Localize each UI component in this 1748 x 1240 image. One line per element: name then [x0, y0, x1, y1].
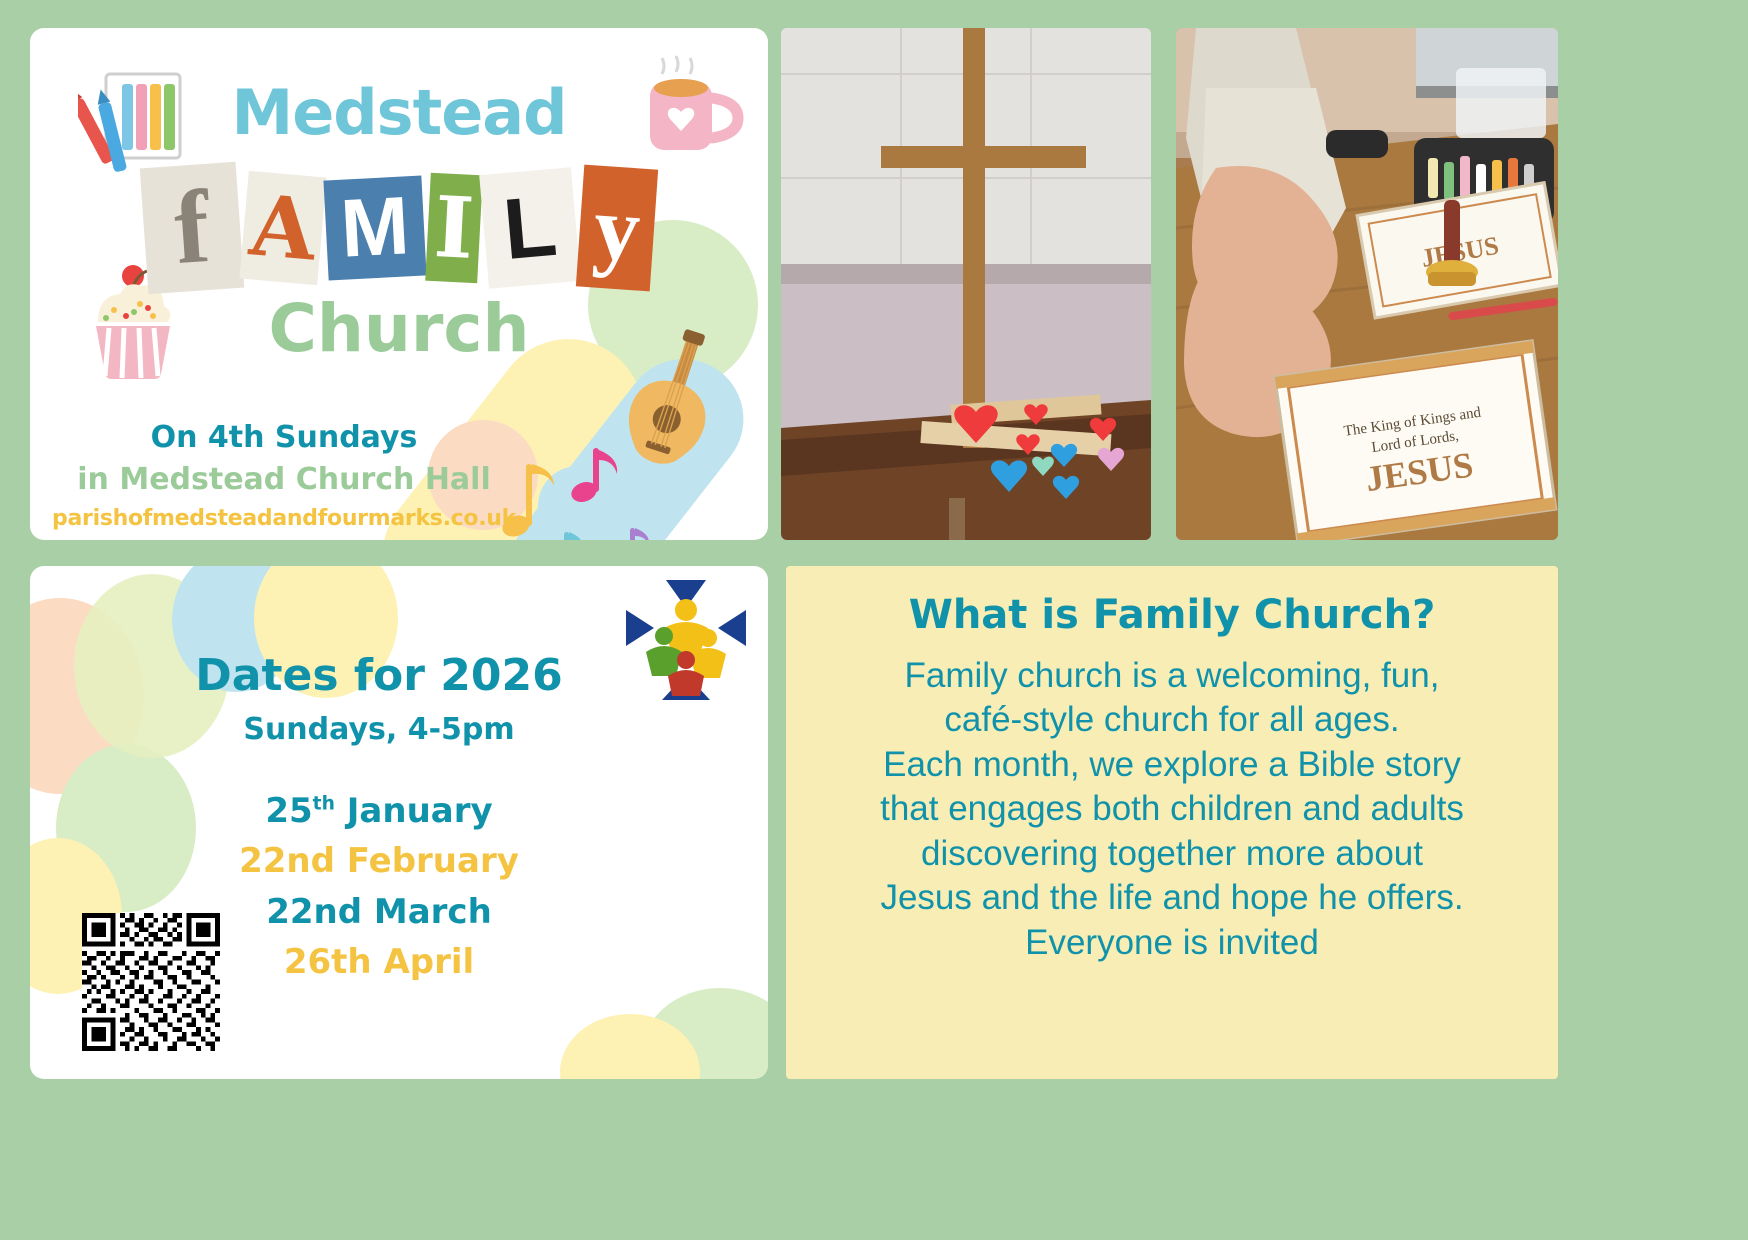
dates-card: Dates for 2026 Sundays, 4-5pm 25th Janua… [30, 566, 768, 1079]
date-day-0: 25 [265, 791, 312, 831]
date-month-3: April [383, 942, 474, 982]
about-line-3: that engages both children and adults [804, 787, 1540, 831]
logo-title-medstead: Medstead [30, 76, 768, 149]
about-line-0: Family church is a welcoming, fun, [804, 654, 1540, 698]
ransom-letter-i: I [425, 173, 483, 284]
about-line-4: discovering together more about [804, 832, 1540, 876]
date-row-1: 22nd February [110, 836, 648, 886]
ransom-letter-l: L [479, 167, 581, 289]
qr-code[interactable] [82, 913, 220, 1051]
wooden-cross-photo [781, 28, 1151, 540]
ransom-letter-m: M [323, 176, 426, 281]
ransom-letter-a: A [239, 171, 326, 285]
about-title: What is Family Church? [804, 592, 1540, 638]
about-body: Family church is a welcoming, fun, café-… [804, 654, 1540, 965]
date-month-0: January [347, 791, 493, 831]
logo-title-church: Church [30, 290, 768, 367]
date-day-3: 26th [284, 942, 372, 982]
ransom-note-family: f A M I L y [30, 158, 768, 298]
family-church-logo-card: Medstead f A M I L y Church On 4th Sunda… [30, 28, 768, 540]
ransom-letter-f: f [140, 162, 245, 294]
about-line-6: Everyone is invited [804, 921, 1540, 965]
about-line-1: café-style church for all ages. [804, 698, 1540, 742]
dates-time: Sundays, 4-5pm [110, 712, 648, 747]
date-day-1: 22nd [239, 841, 335, 881]
date-month-1: February [347, 841, 519, 881]
date-row-0: 25th January [110, 786, 648, 836]
about-line-2: Each month, we explore a Bible story [804, 743, 1540, 787]
date-suffix-0: th [313, 794, 335, 815]
about-line-5: Jesus and the life and hope he offers. [804, 876, 1540, 920]
logo-subtitle-sundays: On 4th Sundays [30, 420, 538, 455]
logo-website-url[interactable]: parishofmedsteadandfourmarks.co.uk [30, 506, 538, 531]
ransom-letter-y: y [576, 165, 658, 292]
craft-table-photo: JESUS The King of Kings and Lord of Lord… [1176, 28, 1558, 540]
logo-subtitle-hall: in Medstead Church Hall [30, 462, 538, 497]
date-day-2: 22nd [266, 892, 362, 932]
poster-root: Medstead f A M I L y Church On 4th Sunda… [0, 0, 1748, 1240]
dates-title: Dates for 2026 [110, 650, 648, 701]
date-month-2: March [374, 892, 492, 932]
about-card: What is Family Church? Family church is … [786, 566, 1558, 1079]
